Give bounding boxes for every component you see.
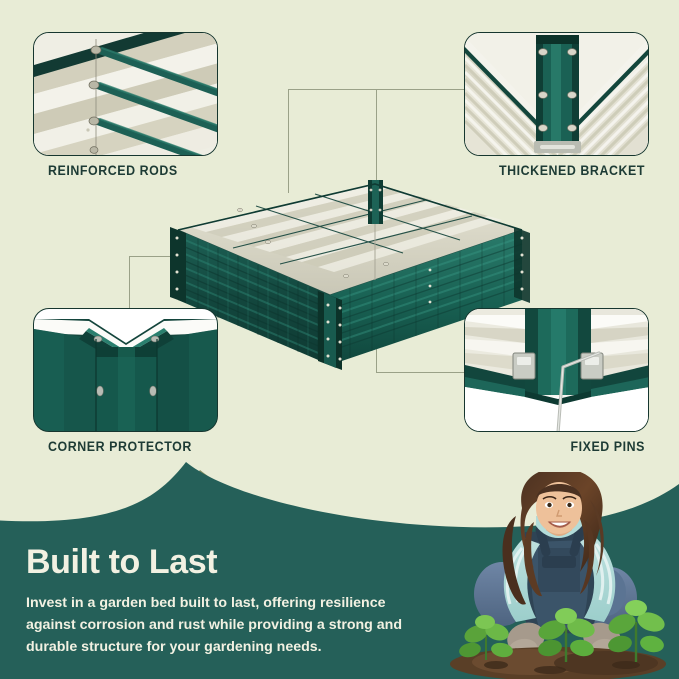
fixed-pins-icon xyxy=(465,309,649,432)
banner-title: Built to Last xyxy=(26,545,217,579)
thickened-bracket-icon xyxy=(465,33,649,156)
callout-label-thickened-bracket: THICKENED BRACKET xyxy=(484,163,645,178)
corner-protector-icon xyxy=(34,309,218,432)
infographic-root: REINFORCED RODS xyxy=(0,0,679,679)
callout-label-reinforced-rods: REINFORCED RODS xyxy=(48,163,178,178)
callout-reinforced-rods[interactable] xyxy=(33,32,218,156)
banner-body: Invest in a garden bed built to last, of… xyxy=(26,592,418,658)
callout-fixed-pins[interactable] xyxy=(464,308,649,432)
callout-thickened-bracket[interactable] xyxy=(464,32,649,156)
woman-planting-illustration xyxy=(430,472,679,679)
connector-bracket-horizontal xyxy=(376,89,464,90)
connector-rods-vertical xyxy=(288,89,289,193)
gardener-photo xyxy=(430,472,679,679)
callout-label-fixed-pins: FIXED PINS xyxy=(484,439,645,454)
callout-corner-protector[interactable] xyxy=(33,308,218,432)
reinforced-rods-icon xyxy=(34,33,218,156)
connector-rods-horizontal xyxy=(288,89,384,90)
callout-label-corner-protector: CORNER PROTECTOR xyxy=(48,439,192,454)
